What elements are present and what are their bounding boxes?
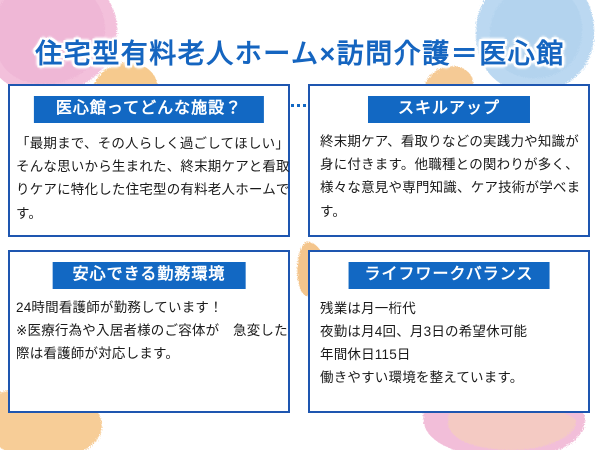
page-title-text: 住宅型有料老人ホーム×訪問介護＝医心館 (35, 41, 564, 68)
card-work-environment: 安心できる勤務環境 24時間看護師が勤務しています！ ※医療行為や入居者様のご容… (8, 250, 290, 413)
card-work-environment-body: 24時間看護師が勤務しています！ ※医療行為や入居者様のご容体が 急変した際は看… (10, 296, 300, 366)
card-work-life-balance: ライフワークバランス 残業は月一桁代 夜勤は月4回、月3日の希望休可能 年間休日… (308, 250, 590, 413)
card-skillup-body: 終末期ケア、看取りなどの実践力や知識が身に付きます。他職種との関わりが多く、様々… (310, 130, 588, 223)
dotted-connector (291, 104, 307, 107)
poster-canvas: 住宅型有料老人ホーム×訪問介護＝医心館 医心館ってどんな施設？ 「最期まで、その… (0, 0, 600, 450)
card-facility: 医心館ってどんな施設？ 「最期まで、その人らしく過ごしてほしい」そんな思いから生… (8, 84, 290, 237)
card-facility-body: 「最期まで、その人らしく過ごしてほしい」そんな思いから生まれた、終末期ケアと看取… (10, 132, 300, 225)
card-work-environment-banner: 安心できる勤務環境 (53, 262, 246, 289)
card-skillup-banner: スキルアップ (368, 96, 530, 123)
card-work-life-balance-banner: ライフワークバランス (349, 262, 550, 289)
card-work-life-balance-body: 残業は月一桁代 夜勤は月4回、月3日の希望休可能 年間休日115日 働きやすい環… (310, 298, 588, 390)
card-facility-banner: 医心館ってどんな施設？ (34, 96, 264, 123)
page-title: 住宅型有料老人ホーム×訪問介護＝医心館 (0, 34, 600, 74)
card-skillup: スキルアップ 終末期ケア、看取りなどの実践力や知識が身に付きます。他職種との関わ… (308, 84, 590, 237)
